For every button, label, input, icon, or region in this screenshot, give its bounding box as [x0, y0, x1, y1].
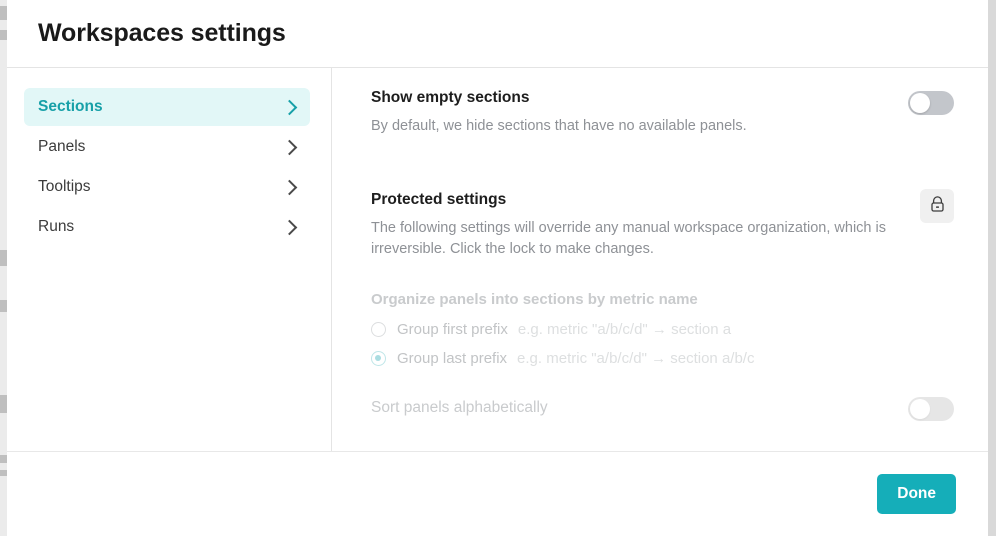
done-button[interactable]: Done [877, 474, 956, 514]
toggle-knob [910, 93, 930, 113]
settings-content-pane: Show empty sections By default, we hide … [332, 68, 988, 451]
page-title: Workspaces settings [38, 19, 286, 48]
sidebar-item-label: Sections [38, 98, 103, 116]
sidebar-item-panels[interactable]: Panels [24, 128, 310, 166]
background-page-left-edge [0, 0, 7, 536]
radio-example-text: e.g. metric "a/b/c/d" → section a [518, 321, 731, 338]
page-scrollbar[interactable] [988, 0, 996, 536]
protected-settings-description: The following settings will override any… [371, 218, 891, 260]
protected-settings-section: Protected settings The following setting… [371, 191, 954, 421]
workspaces-settings-dialog: Workspaces settings Sections Panels Tool… [7, 0, 988, 536]
radio-group-last-prefix[interactable]: Group last prefix e.g. metric "a/b/c/d" … [371, 344, 954, 373]
sidebar-item-label: Runs [38, 218, 74, 236]
dialog-footer: Done [7, 452, 988, 535]
protected-settings-title: Protected settings [371, 191, 891, 209]
sort-panels-toggle[interactable] [908, 397, 954, 421]
chevron-right-icon [282, 139, 298, 155]
sort-panels-label: Sort panels alphabetically [371, 399, 548, 417]
chevron-right-icon [282, 99, 298, 115]
radio-label: Group first prefix [397, 321, 508, 338]
show-empty-sections-title: Show empty sections [371, 89, 747, 107]
radio-button-unselected-icon [371, 322, 386, 337]
sidebar-item-sections[interactable]: Sections [24, 88, 310, 126]
dialog-header: Workspaces settings [7, 0, 988, 68]
radio-label: Group last prefix [397, 350, 507, 367]
toggle-knob [910, 399, 930, 419]
sidebar-item-label: Panels [38, 138, 85, 156]
sort-panels-alphabetically-setting: Sort panels alphabetically [371, 395, 954, 421]
radio-example-text: e.g. metric "a/b/c/d" → section a/b/c [517, 350, 754, 367]
protected-settings-lock-button[interactable] [920, 189, 954, 223]
dialog-body: Sections Panels Tooltips Runs Show e [7, 68, 988, 452]
radio-button-selected-icon [371, 351, 386, 366]
show-empty-sections-description: By default, we hide sections that have n… [371, 116, 747, 137]
chevron-right-icon [282, 179, 298, 195]
radio-group-first-prefix[interactable]: Group first prefix e.g. metric "a/b/c/d"… [371, 315, 954, 344]
show-empty-sections-setting: Show empty sections By default, we hide … [371, 89, 954, 137]
sidebar-item-runs[interactable]: Runs [24, 208, 310, 246]
organize-panels-label: Organize panels into sections by metric … [371, 291, 954, 308]
show-empty-sections-toggle[interactable] [908, 91, 954, 115]
settings-sidebar: Sections Panels Tooltips Runs [7, 68, 332, 451]
sidebar-item-tooltips[interactable]: Tooltips [24, 168, 310, 206]
sidebar-item-label: Tooltips [38, 178, 91, 196]
organize-panels-group: Organize panels into sections by metric … [371, 291, 954, 421]
lock-closed-icon [930, 196, 945, 216]
chevron-right-icon [282, 219, 298, 235]
